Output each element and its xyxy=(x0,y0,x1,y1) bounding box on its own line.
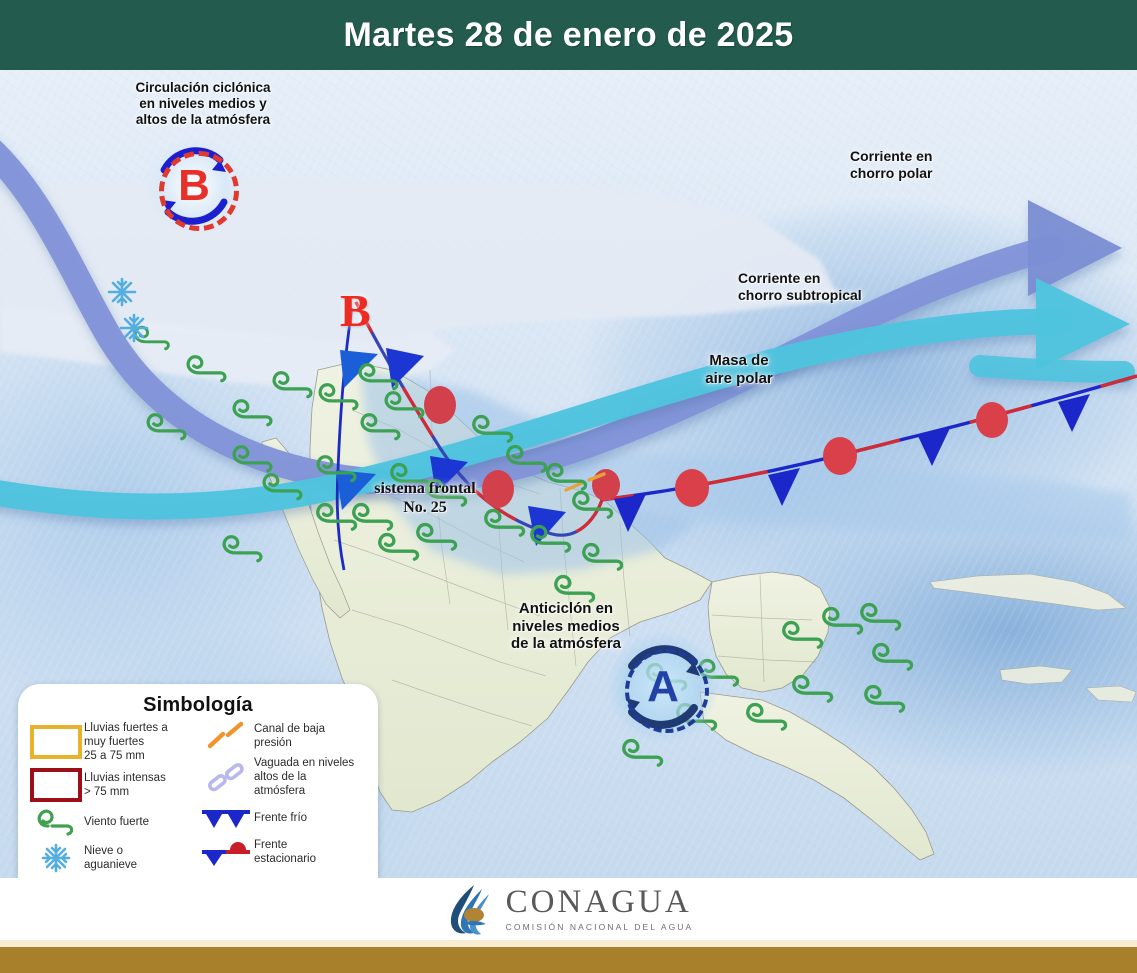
label-anticyclone: Anticiclón en niveles medios de la atmós… xyxy=(466,600,666,653)
label-line-3: 25 a 75 mm xyxy=(84,749,168,763)
upper-level-trough-icon xyxy=(198,761,254,793)
legend-item-label: Canal de baja presión xyxy=(254,722,325,750)
label-line-3: atmósfera xyxy=(254,784,354,798)
legend-item-warm-front: Frente cálido xyxy=(198,871,368,878)
legend-item-strong-wind: Viento fuerte xyxy=(28,807,198,837)
conagua-name: CONAGUA xyxy=(506,886,694,919)
label-line-2: chorro subtropical xyxy=(738,287,948,304)
conagua-subtitle: COMISIÓN NACIONAL DEL AGUA xyxy=(506,922,694,932)
weather-map-page: Martes 28 de enero de 2025 xyxy=(0,0,1137,973)
label-line-1: Viento fuerte xyxy=(84,815,149,829)
legend-item-cold-front: Frente frío xyxy=(198,803,368,832)
strong-wind-icon xyxy=(28,807,84,837)
cream-divider-bar xyxy=(0,940,1137,947)
label-subtropical-jet: Corriente en chorro subtropical xyxy=(738,270,948,303)
label-line-2: niveles medios xyxy=(466,618,666,636)
legend-item-label: Lluvias fuertes a muy fuertes 25 a 75 mm xyxy=(84,721,168,763)
legend-item-snow: Nieve o aguanieve xyxy=(28,842,198,874)
low-pressure-trough-icon xyxy=(198,721,254,751)
legend-item-label: Lluvias intensas > 75 mm xyxy=(84,771,166,799)
label-line-1: Circulación ciclónica xyxy=(108,80,298,96)
legend-panel: Simbología Lluvias fuertes a muy fuertes… xyxy=(18,684,378,878)
legend-title: Simbología xyxy=(18,684,378,717)
footer: CONAGUA COMISIÓN NACIONAL DEL AGUA xyxy=(0,878,1137,973)
legend-item-low-trough: Canal de baja presión xyxy=(198,721,368,751)
land-yucatan-central-america xyxy=(700,572,934,860)
low-pressure-letter: B xyxy=(144,136,244,236)
label-line-2: aguanieve xyxy=(84,858,137,872)
legend-item-label: Vaguada en niveles altos de la atmósfera xyxy=(254,756,354,798)
gold-footer-bar xyxy=(0,947,1137,973)
legend-column-left: Lluvias fuertes a muy fuertes 25 a 75 mm… xyxy=(28,721,198,878)
label-line-2: presión xyxy=(254,736,325,750)
legend-item-label: Viento fuerte xyxy=(84,815,149,829)
label-line-2: No. 25 xyxy=(330,499,520,518)
legend-item-label: Frente estacionario xyxy=(254,838,316,866)
legend-column-right: Canal de baja presión xyxy=(198,721,368,878)
label-line-2: > 75 mm xyxy=(84,785,166,799)
rain-heavy-box-icon xyxy=(28,725,84,759)
label-polar-jet: Corriente en chorro polar xyxy=(850,148,1030,181)
label-line-1: Corriente en xyxy=(738,270,948,287)
conagua-logo-text: CONAGUA COMISIÓN NACIONAL DEL AGUA xyxy=(506,886,694,932)
label-line-1: Masa de xyxy=(664,352,814,370)
label-cyclonic-circulation: Circulación ciclónica en niveles medios … xyxy=(108,80,298,128)
label-line-2: muy fuertes xyxy=(84,735,168,749)
label-line-1: Lluvias intensas xyxy=(84,771,166,785)
snow-sleet-icon xyxy=(28,842,84,874)
land-caribbean-islands xyxy=(930,574,1136,702)
legend-item-label: Frente frío xyxy=(254,811,307,825)
label-line-3: de la atmósfera xyxy=(466,635,666,653)
legend-item-stationary-front: Frente estacionario xyxy=(198,837,368,866)
conagua-logo: CONAGUA COMISIÓN NACIONAL DEL AGUA xyxy=(0,878,1137,940)
header-bar: Martes 28 de enero de 2025 xyxy=(0,0,1137,70)
page-title: Martes 28 de enero de 2025 xyxy=(0,0,1137,70)
label-line-2: altos de la xyxy=(254,770,354,784)
legend-item-intense-rain: Lluvias intensas > 75 mm xyxy=(28,768,198,802)
rain-intense-box-icon xyxy=(28,768,84,802)
label-line-1: Nieve o xyxy=(84,844,137,858)
weather-map: B A B Circulación ciclónica en niveles m… xyxy=(0,70,1137,878)
label-line-1: Frente frío xyxy=(254,811,307,825)
label-line-1: sistema frontal xyxy=(330,480,520,499)
label-line-1: Vaguada en niveles xyxy=(254,756,354,770)
label-line-1: Frente xyxy=(254,838,316,852)
conagua-water-drop-icon xyxy=(444,881,496,937)
label-polar-air-mass: Masa de aire polar xyxy=(664,352,814,387)
label-line-1: Anticiclón en xyxy=(466,600,666,618)
label-line-1: Canal de baja xyxy=(254,722,325,736)
label-line-1: Lluvias fuertes a xyxy=(84,721,168,735)
legend-item-upper-trough: Vaguada en niveles altos de la atmósfera xyxy=(198,756,368,798)
stationary-front-icon xyxy=(198,838,254,866)
label-line-1: Corriente en xyxy=(850,148,1030,165)
label-line-3: altos de la atmósfera xyxy=(108,112,298,128)
label-line-2: aire polar xyxy=(664,370,814,388)
legend-item-label: Nieve o aguanieve xyxy=(84,844,137,872)
surface-low-marker: B xyxy=(340,284,371,337)
legend-item-heavy-rain: Lluvias fuertes a muy fuertes 25 a 75 mm xyxy=(28,721,198,763)
label-line-2: chorro polar xyxy=(850,165,1030,182)
label-frontal-system: sistema frontal No. 25 xyxy=(330,480,520,518)
label-line-2: en niveles medios y xyxy=(108,96,298,112)
label-line-2: estacionario xyxy=(254,852,316,866)
cold-front-icon xyxy=(198,806,254,830)
cyclonic-circulation-symbol: B xyxy=(144,136,244,236)
